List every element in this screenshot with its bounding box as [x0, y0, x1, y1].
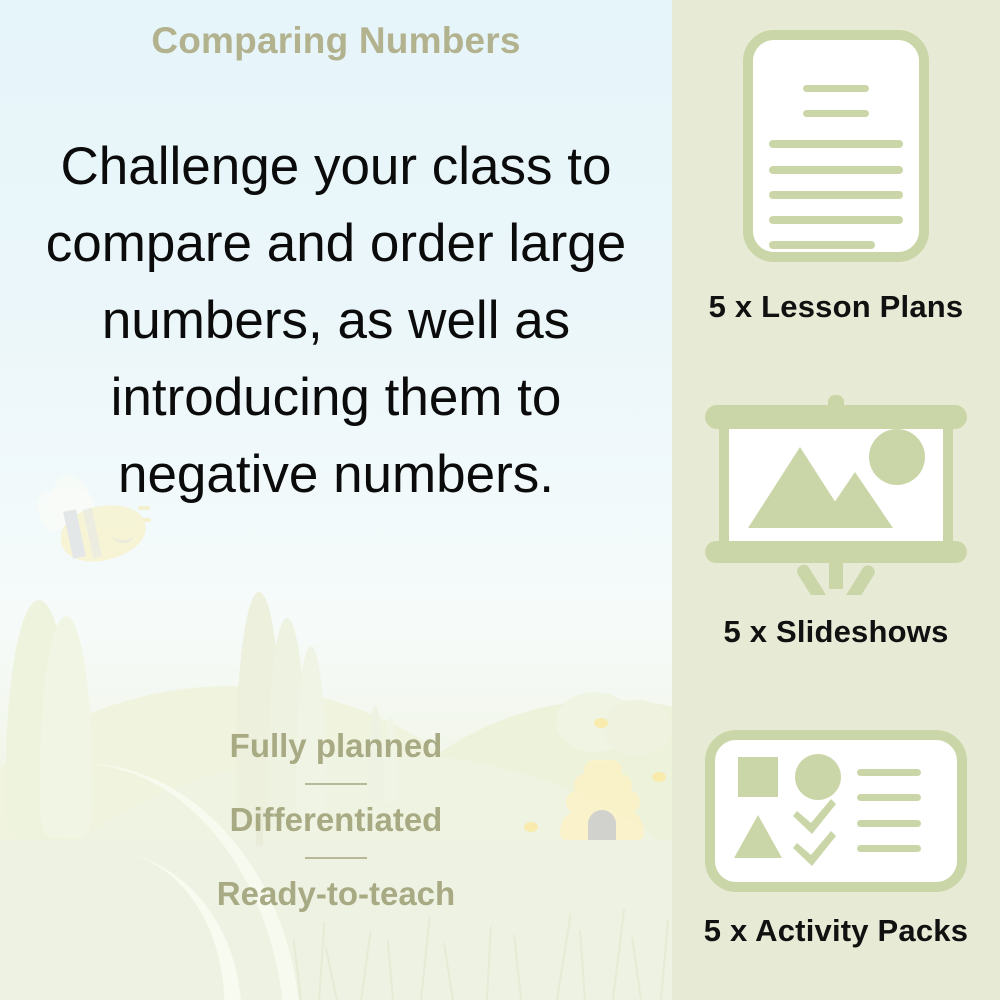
deliverable-label: 5 x Slideshows [672, 614, 1000, 650]
deliverable-slideshows: 5 x Slideshows [672, 395, 1000, 650]
feature-divider [305, 783, 367, 785]
deliverable-activity-packs: 5 x Activity Packs [672, 730, 1000, 949]
left-content-panel: Comparing Numbers Challenge your class t… [0, 0, 672, 1000]
document-icon [672, 30, 1000, 267]
headline-text: Challenge your class to compare and orde… [36, 128, 636, 513]
page-title: Comparing Numbers [0, 20, 672, 62]
deliverable-lesson-plans: 5 x Lesson Plans [672, 30, 1000, 325]
bee-face [112, 526, 134, 543]
deliverables-panel: 5 x Lesson Plans [672, 0, 1000, 1000]
feature-item-2: Differentiated [0, 796, 672, 845]
poster-canvas: Comparing Numbers Challenge your class t… [0, 0, 1000, 1000]
deliverable-label: 5 x Activity Packs [672, 913, 1000, 949]
projector-icon [672, 395, 1000, 600]
bee-motion-trail [142, 518, 151, 522]
activity-card-icon [672, 730, 1000, 897]
feature-item-3: Ready-to-teach [0, 870, 672, 919]
deliverable-label: 5 x Lesson Plans [672, 289, 1000, 325]
feature-divider [305, 857, 367, 859]
feature-item-1: Fully planned [0, 722, 672, 771]
feature-list: Fully planned Differentiated Ready-to-te… [0, 722, 672, 919]
